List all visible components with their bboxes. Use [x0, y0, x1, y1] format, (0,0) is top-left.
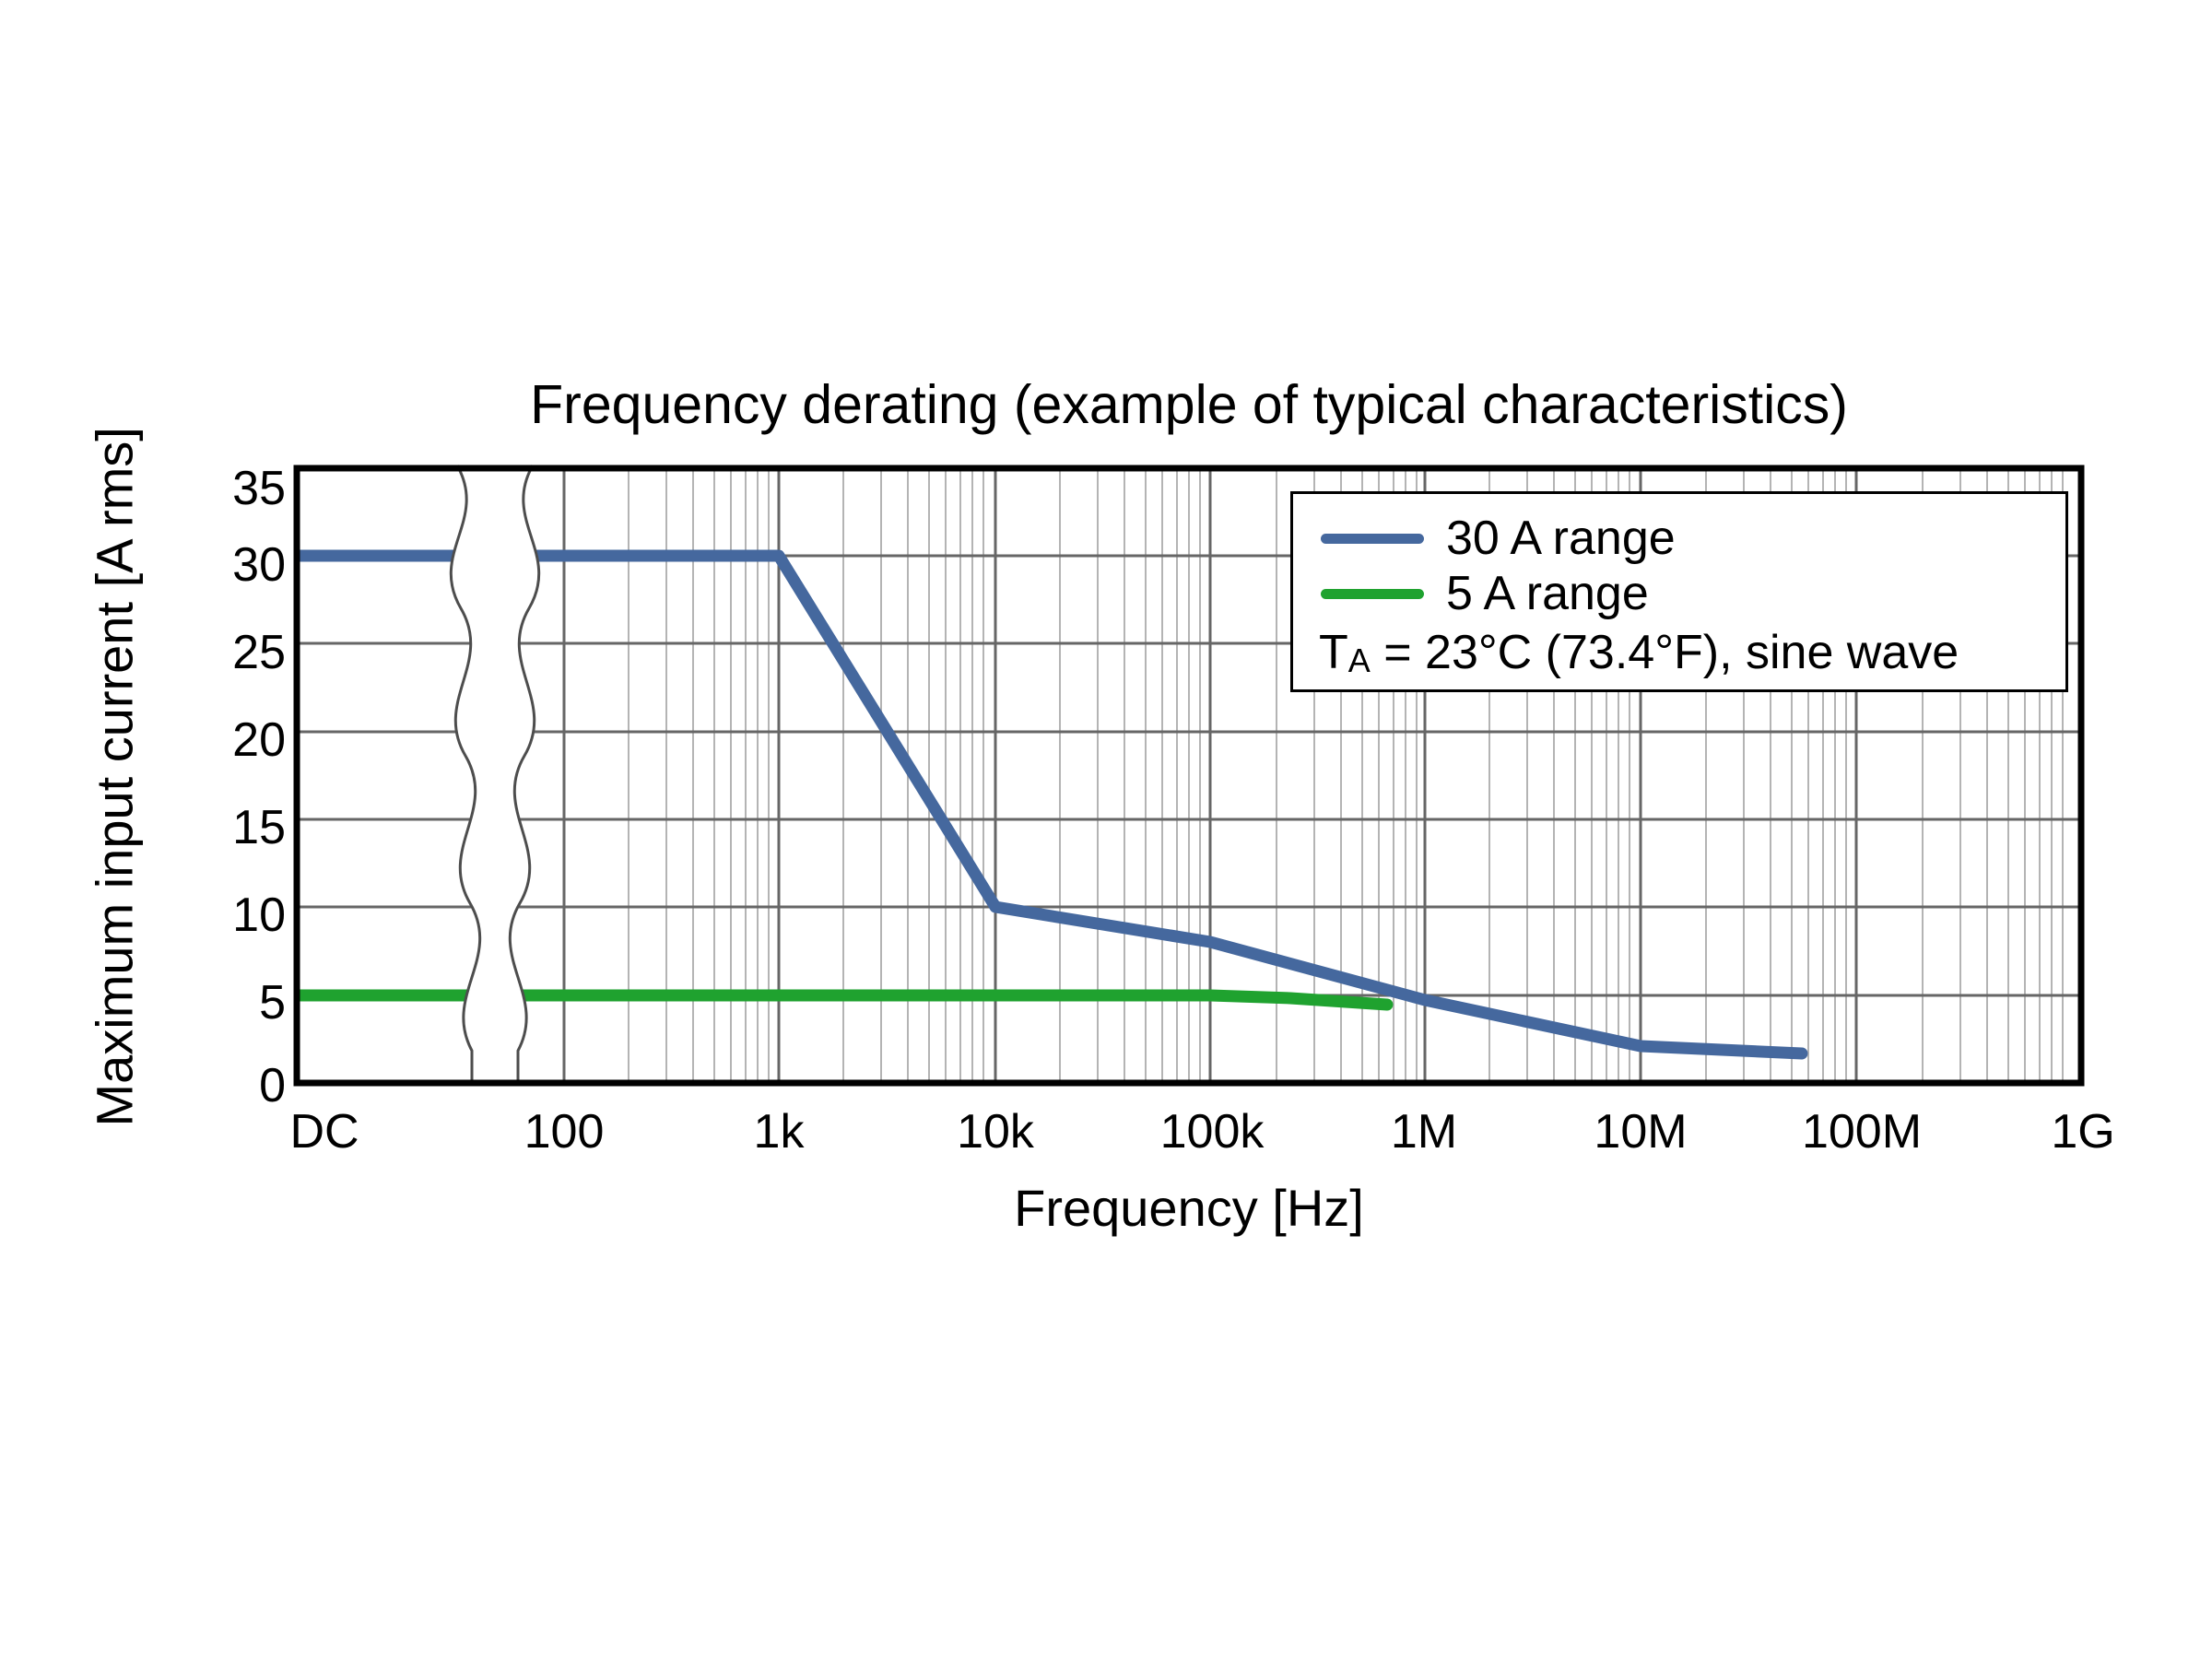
legend-label-30a: 30 A range — [1446, 511, 1676, 566]
chart-figure: Frequency derating (example of typical c… — [0, 0, 2212, 1659]
legend-note-subscript: A — [1348, 641, 1371, 679]
legend-condition-note: TA = 23°C (73.4°F), sine wave — [1319, 625, 1959, 680]
legend-note-symbol: T — [1319, 626, 1348, 679]
legend-label-5a: 5 A range — [1446, 566, 1649, 621]
legend-swatch-5a — [1321, 589, 1424, 599]
figure-canvas: Frequency derating (example of typical c… — [0, 0, 2212, 1659]
plot-area — [0, 0, 2212, 1659]
chart-legend: 30 A range 5 A range TA = 23°C (73.4°F),… — [1290, 491, 2068, 692]
legend-item-5a: 5 A range — [1321, 566, 1649, 621]
legend-note-text: = 23°C (73.4°F), sine wave — [1371, 626, 1959, 679]
legend-item-30a: 30 A range — [1321, 511, 1676, 566]
legend-swatch-30a — [1321, 534, 1424, 544]
